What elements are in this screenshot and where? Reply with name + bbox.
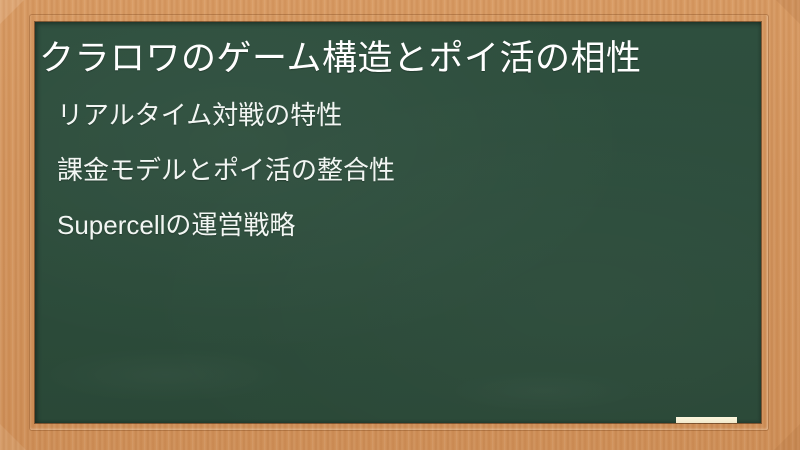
slide-bullet-list: リアルタイム対戦の特性 課金モデルとポイ活の整合性 Supercellの運営戦略 xyxy=(39,100,749,265)
frame-corner-top-right xyxy=(776,0,800,24)
list-item: Supercellの運営戦略 xyxy=(39,210,749,240)
slide-title: クラロワのゲーム構造とポイ活の相性 xyxy=(39,36,751,82)
frame-corner-bottom-left xyxy=(0,424,26,450)
frame-corner-bottom-right xyxy=(774,424,800,450)
list-item: 課金モデルとポイ活の整合性 xyxy=(39,155,749,185)
chalkboard-slide: クラロワのゲーム構造とポイ活の相性 リアルタイム対戦の特性 課金モデルとポイ活の… xyxy=(0,0,800,450)
chalk-stick-icon xyxy=(676,417,737,423)
chalkboard-surface: クラロワのゲーム構造とポイ活の相性 リアルタイム対戦の特性 課金モデルとポイ活の… xyxy=(35,22,761,423)
frame-corner-top-left xyxy=(0,0,24,24)
list-item: リアルタイム対戦の特性 xyxy=(39,100,749,130)
